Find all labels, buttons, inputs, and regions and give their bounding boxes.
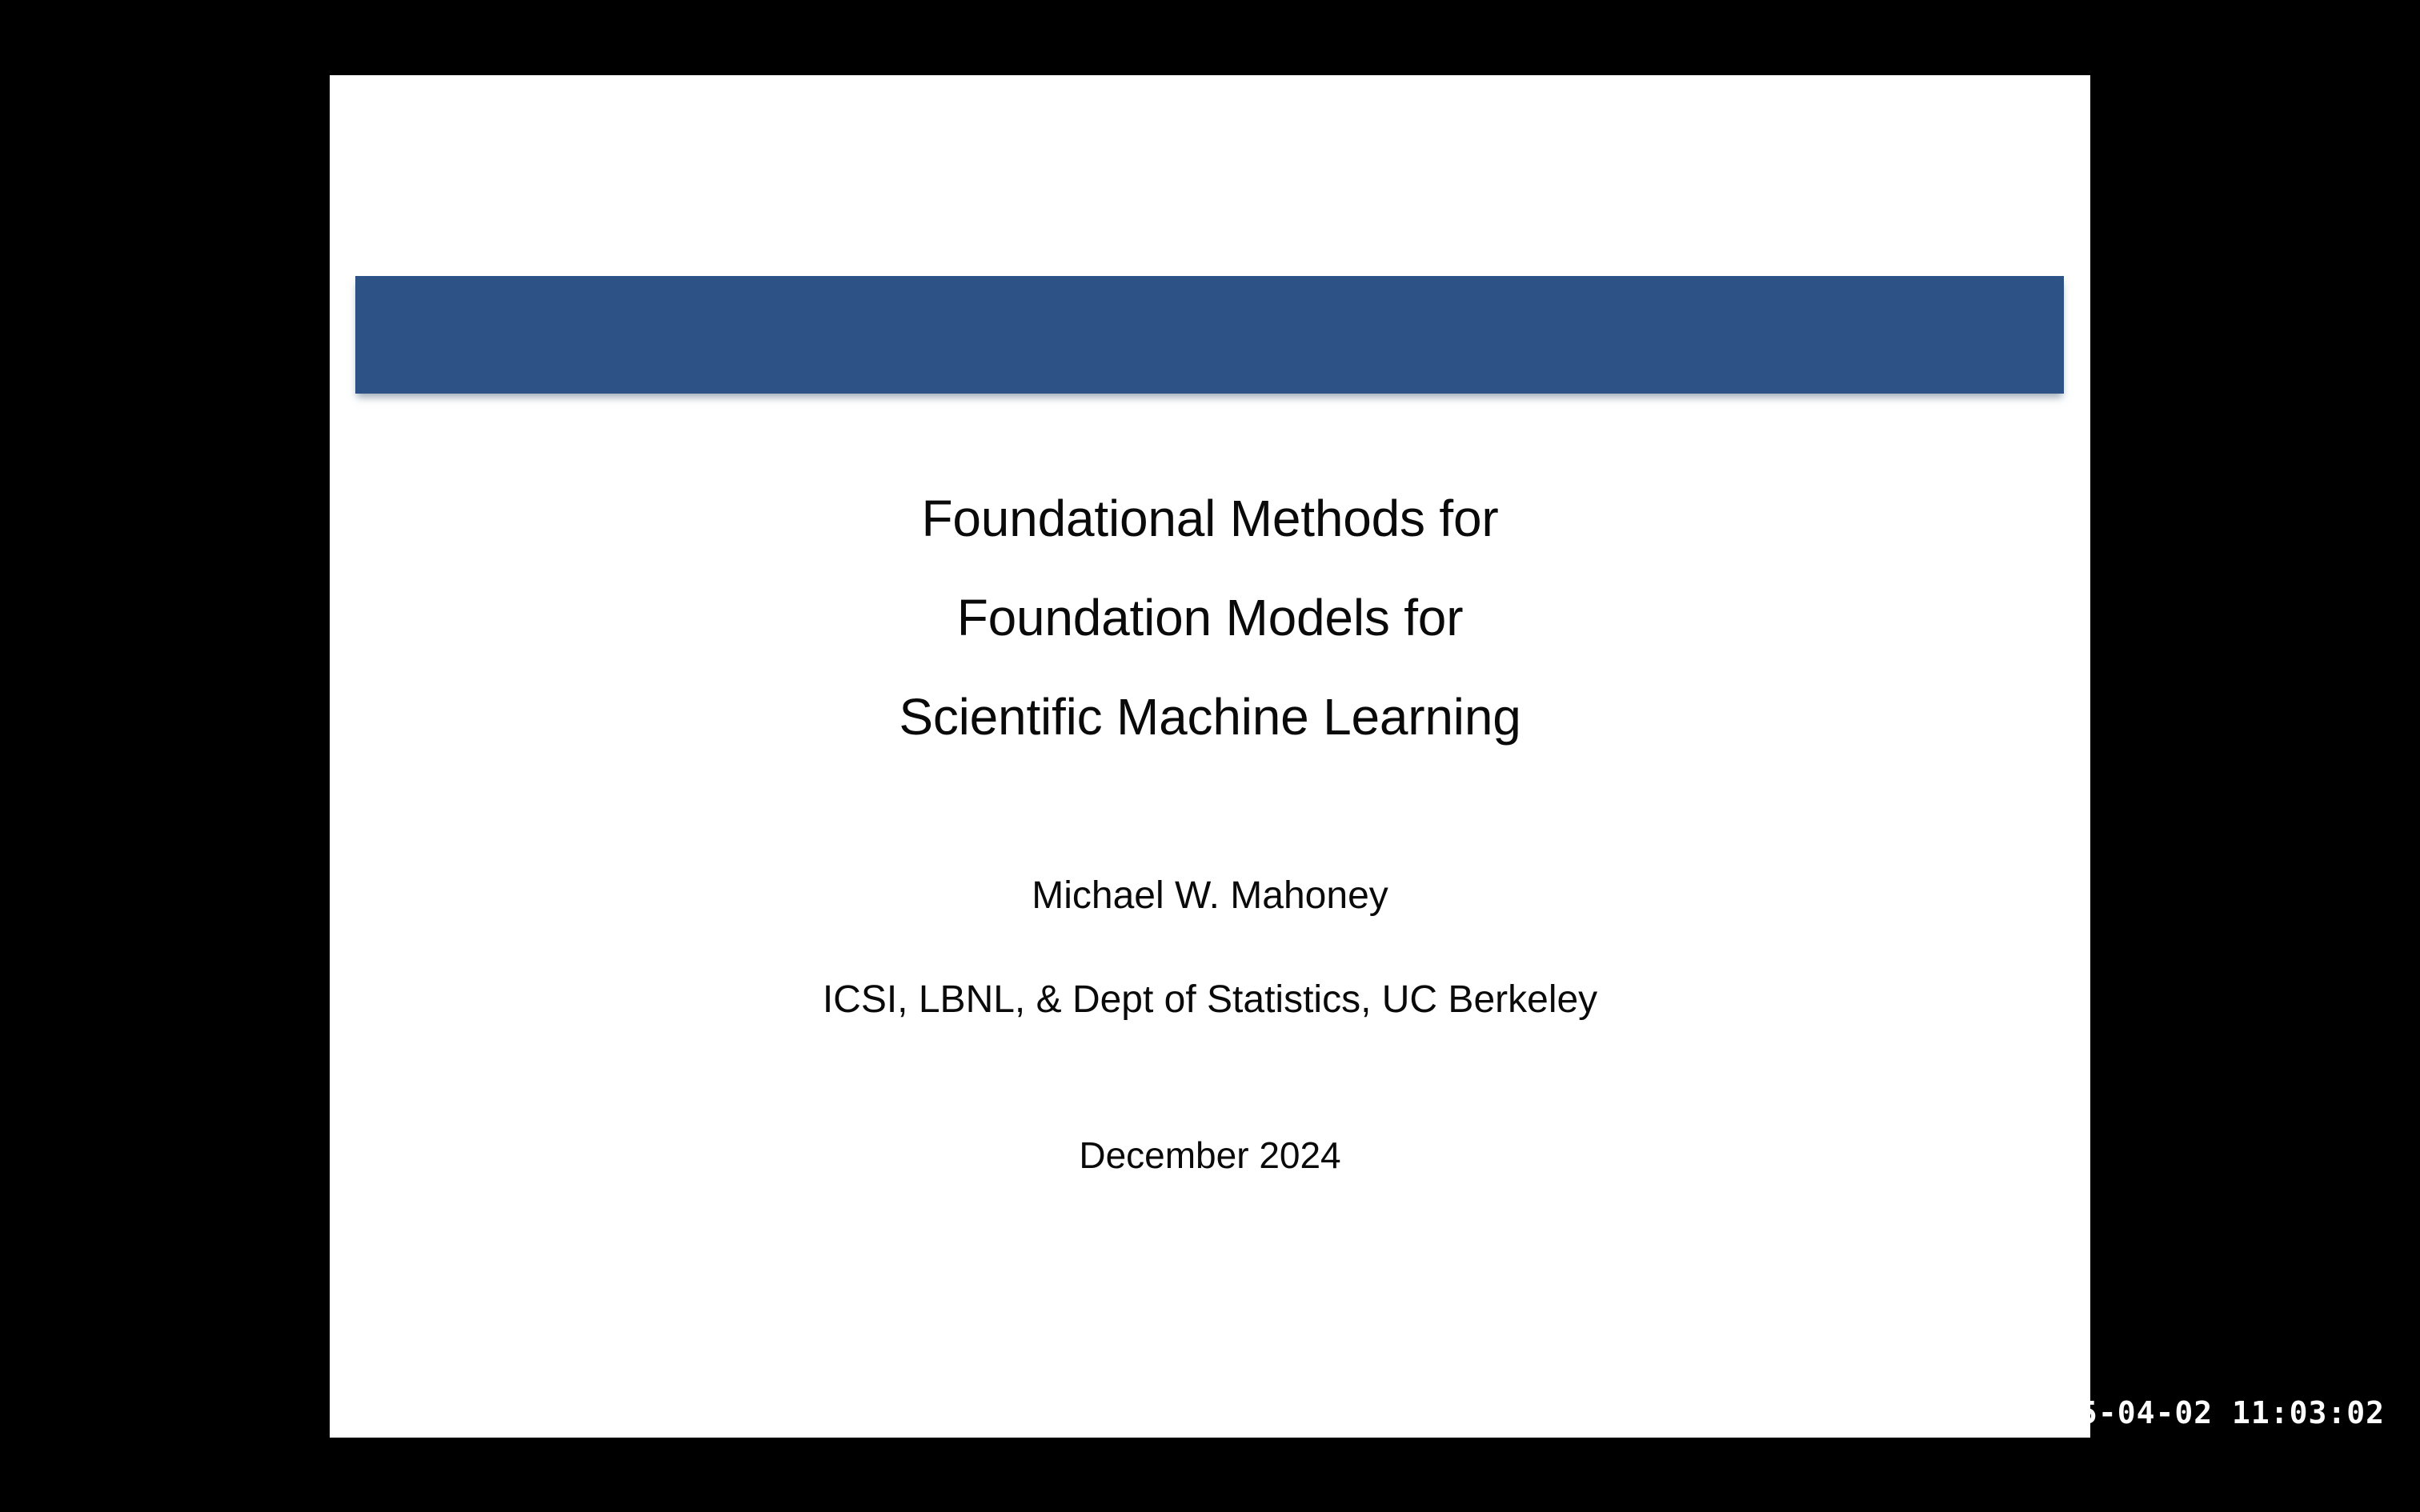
recording-timestamp: 2025-04-02 11:03:02 xyxy=(2021,1395,2385,1430)
slide-decorative-banner xyxy=(355,276,2064,394)
presentation-slide: Foundational Methods for Foundation Mode… xyxy=(330,75,2090,1438)
title-line-3: Scientific Machine Learning xyxy=(330,667,2090,766)
title-line-2: Foundation Models for xyxy=(330,568,2090,667)
slide-date: December 2024 xyxy=(330,1134,2090,1176)
slide-affiliation: ICSI, LBNL, & Dept of Statistics, UC Ber… xyxy=(330,979,2090,1021)
slide-author: Michael W. Mahoney xyxy=(330,875,2090,917)
title-line-1: Foundational Methods for xyxy=(330,469,2090,568)
screen-recording-frame: Foundational Methods for Foundation Mode… xyxy=(0,0,2420,1512)
slide-title: Foundational Methods for Foundation Mode… xyxy=(330,469,2090,766)
